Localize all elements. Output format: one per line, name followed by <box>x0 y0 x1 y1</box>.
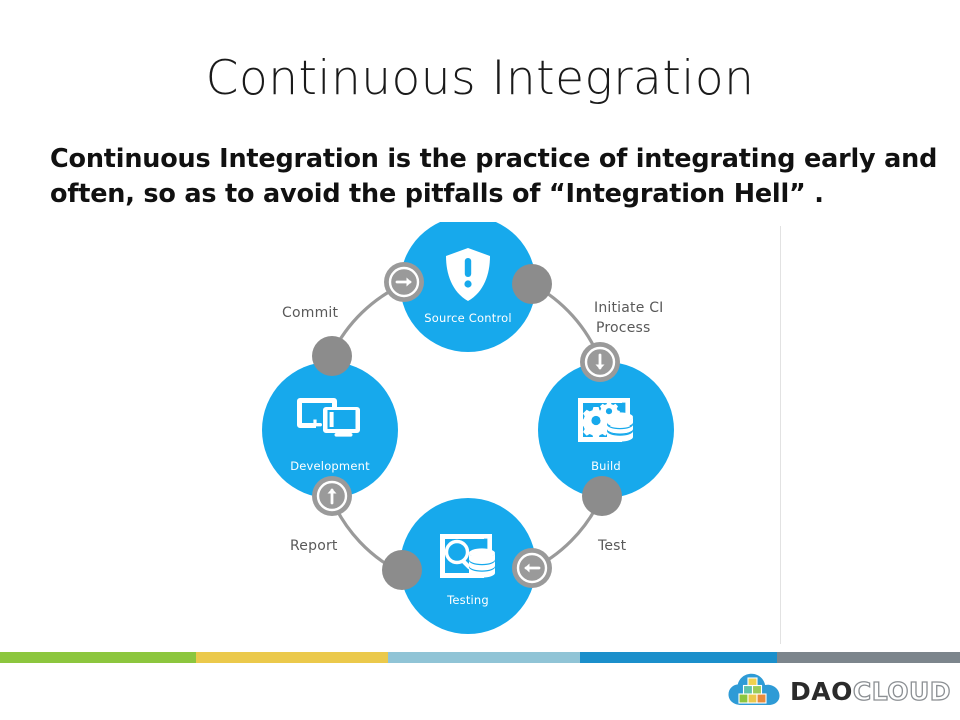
footer-segment-green <box>0 652 196 663</box>
edge-label-initiate-ci-line2: Process <box>596 320 651 336</box>
arrow-up-icon <box>312 476 352 516</box>
body-line-2: often, so as to avoid the pitfalls of “I… <box>50 177 950 212</box>
cloud-blocks-icon <box>726 671 784 711</box>
node-label-build: Build <box>591 459 621 473</box>
edge-label-commit: Commit <box>282 305 339 321</box>
vertical-divider <box>780 226 781 644</box>
daocloud-logo: DAOCLOUD <box>726 670 942 712</box>
footer-segment-gray <box>777 652 960 663</box>
arrow-right-icon <box>384 262 424 302</box>
footer-segment-yellow <box>196 652 388 663</box>
arrow-down-icon <box>580 342 620 382</box>
logo-wordmark: DAOCLOUD <box>790 679 951 704</box>
arrow-left-icon <box>512 548 552 588</box>
page-title: Continuous Integration <box>0 52 960 106</box>
logo-word-dao: DAO <box>790 677 853 706</box>
edge-label-test: Test <box>597 538 627 554</box>
node-label-development: Development <box>290 459 370 473</box>
body-paragraph: Continuous Integration is the practice o… <box>50 142 950 211</box>
edge-label-initiate-ci-line1: Initiate CI <box>594 300 664 316</box>
dot-source-control-out <box>512 264 552 304</box>
edge-label-report: Report <box>290 538 338 554</box>
slide-canvas: Continuous Integration Continuous Integr… <box>0 0 960 720</box>
node-label-source-control: Source Control <box>424 311 512 325</box>
footer-segment-light-blue <box>388 652 580 663</box>
dot-build-out <box>582 476 622 516</box>
logo-word-cloud: CLOUD <box>853 677 951 706</box>
dot-development-out <box>312 336 352 376</box>
footer-color-bar <box>0 652 960 663</box>
ci-cycle-diagram: Source Control Build Testing <box>240 222 720 642</box>
footer-segment-dark-blue <box>580 652 777 663</box>
dot-testing-out <box>382 550 422 590</box>
body-line-1: Continuous Integration is the practice o… <box>50 142 950 177</box>
node-label-testing: Testing <box>446 593 489 607</box>
